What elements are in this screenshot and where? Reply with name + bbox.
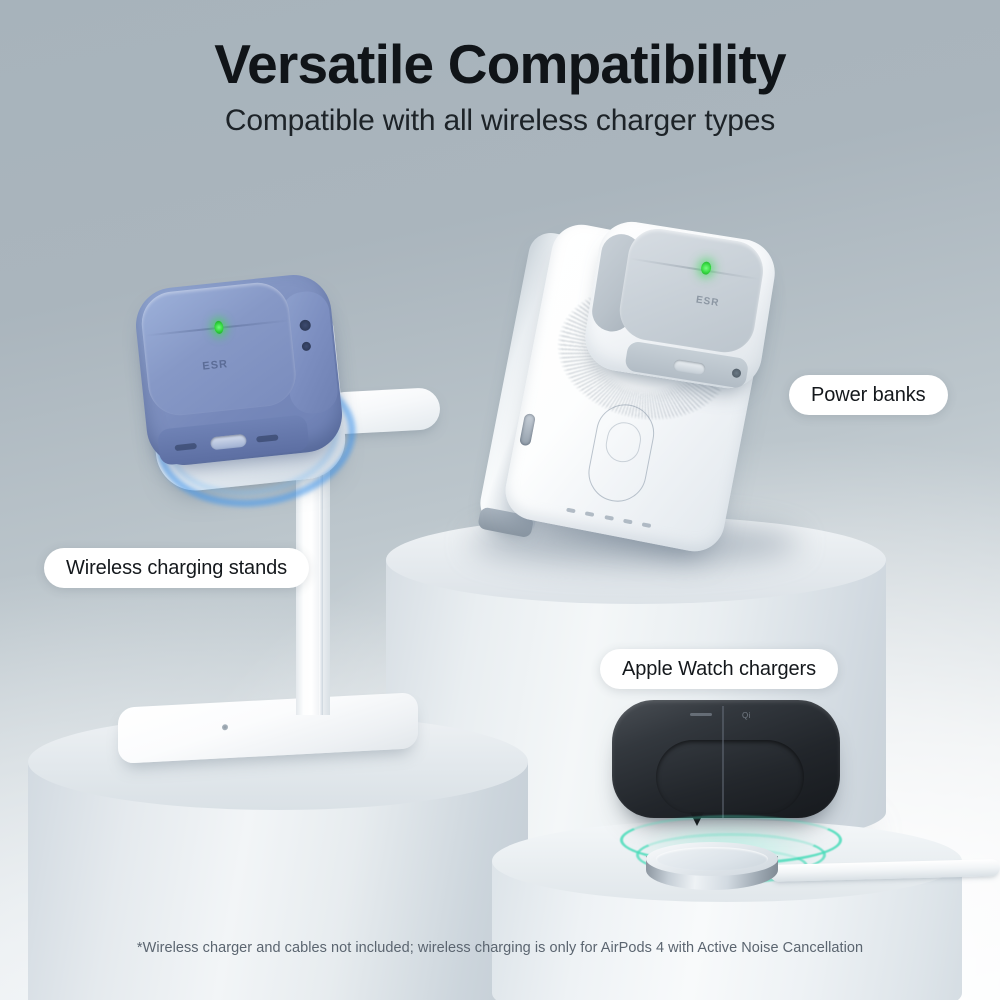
callout-power-banks[interactable]: Power banks xyxy=(789,375,948,415)
page-subtitle: Compatible with all wireless charger typ… xyxy=(0,104,1000,138)
apple-watch-charger-puck xyxy=(646,842,778,896)
battery-led-2 xyxy=(585,511,595,517)
callout-label: Power banks xyxy=(811,384,926,407)
battery-led-1 xyxy=(566,508,576,514)
battery-led-3 xyxy=(604,515,614,521)
podium-left xyxy=(28,714,528,1000)
promo-image-canvas: Versatile Compatibility Compatible with … xyxy=(0,0,1000,1000)
callout-apple-watch-chargers[interactable]: Apple Watch chargers xyxy=(600,649,838,689)
battery-led-4 xyxy=(623,519,633,525)
callout-label: Wireless charging stands xyxy=(66,557,287,580)
page-title: Versatile Compatibility xyxy=(0,36,1000,94)
footnote-disclaimer: *Wireless charger and cables not include… xyxy=(0,940,1000,956)
stand-base-led xyxy=(222,724,228,730)
black-case-oval-recess xyxy=(656,740,804,814)
grey-case-lid xyxy=(615,225,767,357)
airpods-case-white: ESR xyxy=(580,217,779,393)
battery-led-5 xyxy=(642,522,652,528)
black-case-marking xyxy=(690,713,712,716)
black-case-seam xyxy=(722,706,724,818)
airpods-case-blue: ESR xyxy=(132,271,346,469)
puck-rim xyxy=(656,847,768,871)
callout-wireless-charging-stands[interactable]: Wireless charging stands xyxy=(44,548,309,588)
blue-case-lid xyxy=(139,280,299,419)
airpods-case-black: Qi xyxy=(612,700,840,818)
qi-badge-icon: Qi xyxy=(742,711,751,720)
callout-label: Apple Watch chargers xyxy=(622,658,816,681)
